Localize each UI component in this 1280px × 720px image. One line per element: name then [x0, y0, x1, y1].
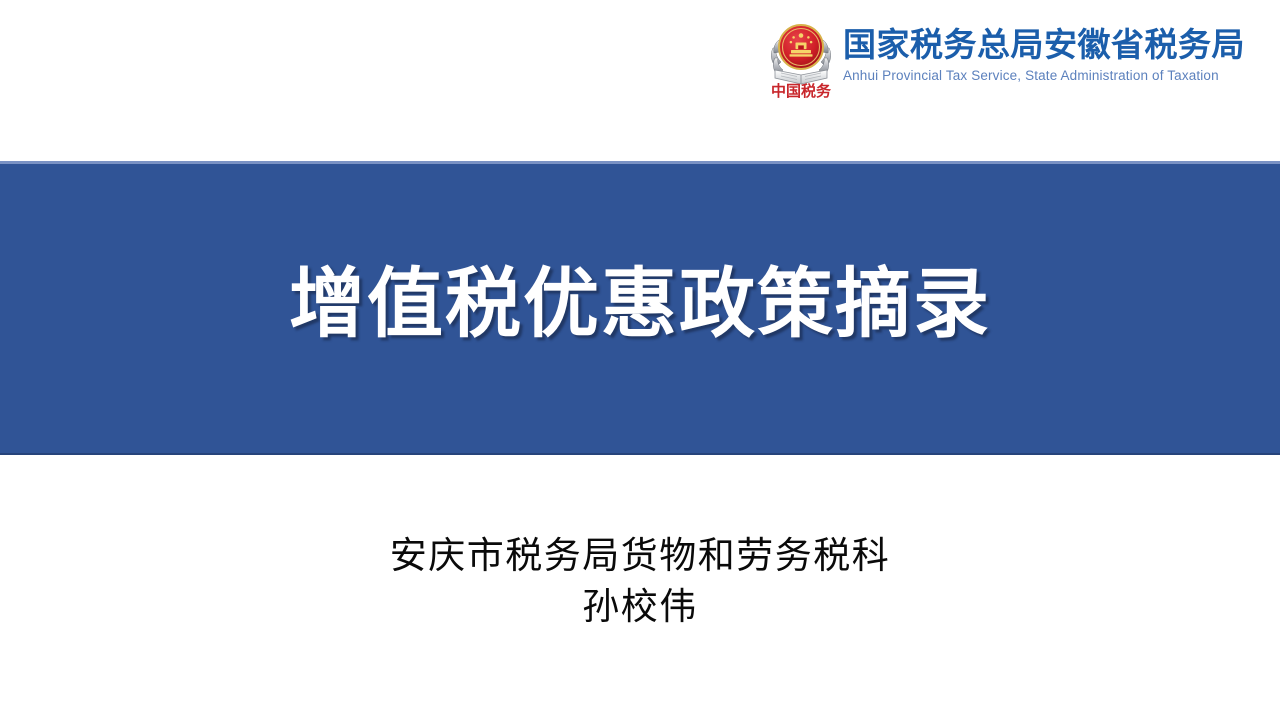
presenter-block: 安庆市税务局货物和劳务税科 孙校伟 [0, 530, 1280, 632]
organization-name-en: Anhui Provincial Tax Service, State Admi… [843, 68, 1245, 83]
presentation-slide: 中国税务 国家税务总局安徽省税务局 Anhui Provincial Tax S… [0, 0, 1280, 720]
emblem-caption: 中国税务 [771, 82, 832, 100]
organization-name-cn: 国家税务总局安徽省税务局 [843, 27, 1245, 64]
presenter-name: 孙校伟 [0, 581, 1280, 632]
presenter-department: 安庆市税务局货物和劳务税科 [0, 530, 1280, 581]
organization-logo: 中国税务 国家税务总局安徽省税务局 Anhui Provincial Tax S… [769, 14, 1245, 102]
slide-title: 增值税优惠政策摘录 [289, 266, 991, 352]
title-banner: 增值税优惠政策摘录 [0, 161, 1280, 455]
china-tax-emblem-icon: 中国税务 [769, 14, 833, 102]
organization-name-block: 国家税务总局安徽省税务局 Anhui Provincial Tax Servic… [843, 27, 1245, 90]
